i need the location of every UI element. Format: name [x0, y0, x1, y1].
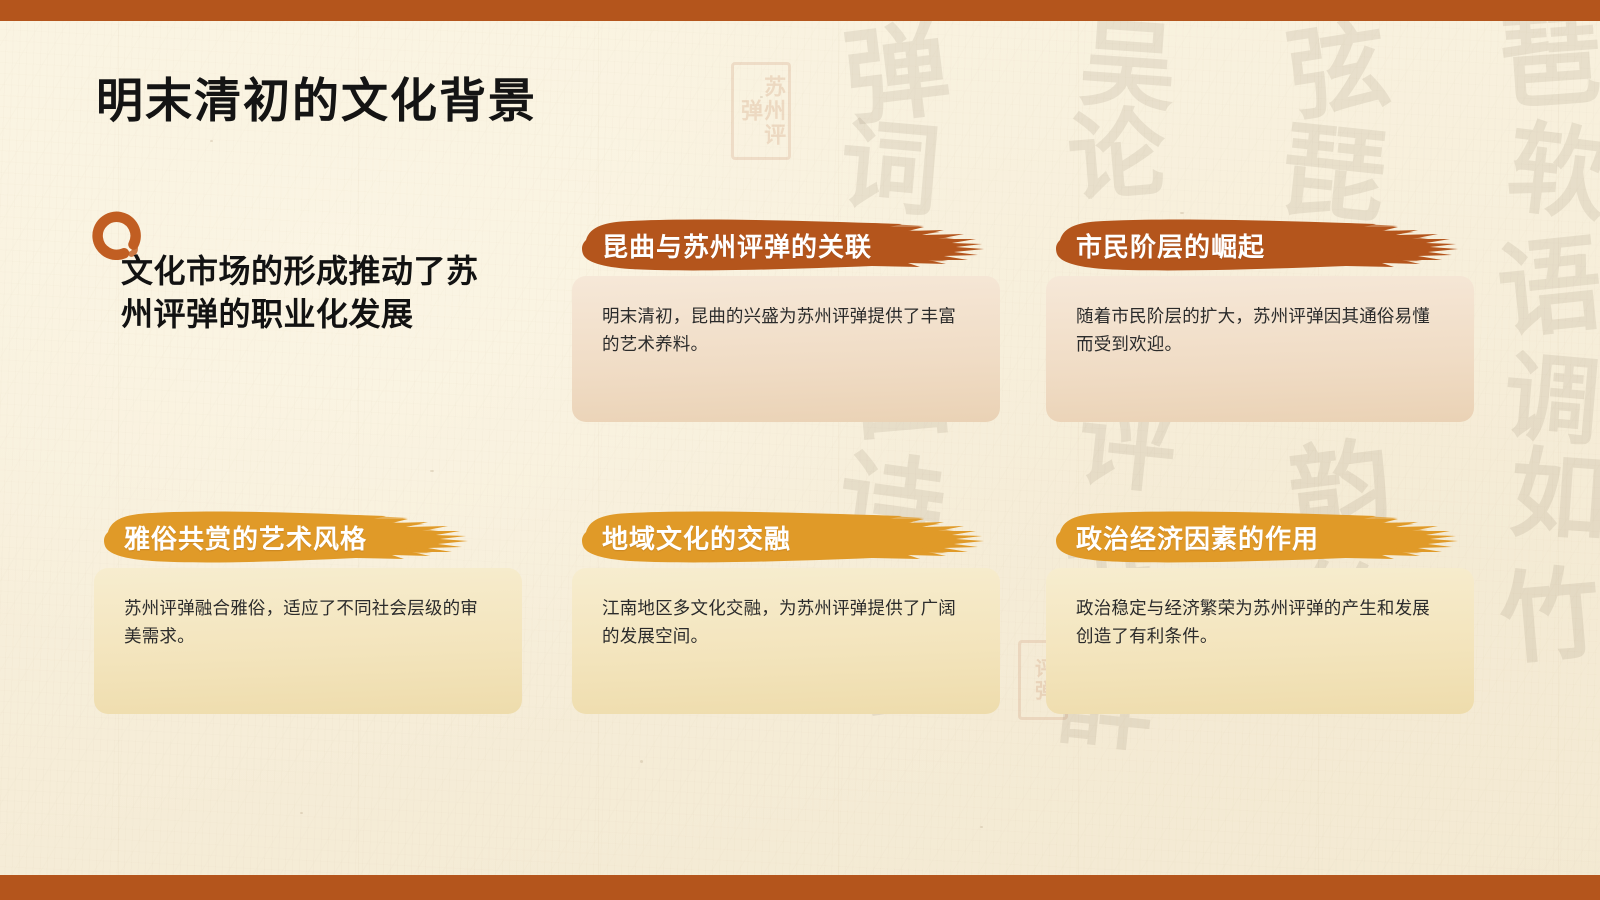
- info-card[interactable]: 市民阶层的崛起 随着市民阶层的扩大，苏州评弹因其通俗易懂而受到欢迎。: [1046, 214, 1474, 422]
- card-body: 随着市民阶层的扩大，苏州评弹因其通俗易懂而受到欢迎。: [1046, 276, 1474, 422]
- card-body-text: 明末清初，昆曲的兴盛为苏州评弹提供了丰富的艺术养料。: [602, 302, 970, 359]
- paper-speck-layer: [0, 0, 1600, 900]
- card-banner: 政治经济因素的作用: [1046, 506, 1474, 568]
- card-body-text: 政治稳定与经济繁荣为苏州评弹的产生和发展创造了有利条件。: [1076, 594, 1444, 651]
- page-title: 明末清初的文化背景: [96, 62, 537, 131]
- lead-statement-text: 文化市场的形成推动了苏州评弹的职业化发展: [121, 250, 491, 335]
- card-banner: 地域文化的交融: [572, 506, 1000, 568]
- slide-root: 弹 词 吴 论 弦 琵 琶 软 语 调 曲 诗 韵 如 评 书 丝 竹 雅 醉 …: [0, 0, 1600, 900]
- card-title: 市民阶层的崛起: [1076, 214, 1265, 276]
- card-title: 昆曲与苏州评弹的关联: [602, 214, 872, 276]
- card-body-text: 苏州评弹融合雅俗，适应了不同社会层级的审美需求。: [124, 594, 492, 651]
- card-title: 地域文化的交融: [602, 506, 791, 568]
- bottom-accent-bar: [0, 875, 1600, 900]
- info-card[interactable]: 雅俗共赏的艺术风格 苏州评弹融合雅俗，适应了不同社会层级的审美需求。: [94, 506, 522, 714]
- card-title: 雅俗共赏的艺术风格: [124, 506, 367, 568]
- info-card[interactable]: 政治经济因素的作用 政治稳定与经济繁荣为苏州评弹的产生和发展创造了有利条件。: [1046, 506, 1474, 714]
- card-banner: 雅俗共赏的艺术风格: [94, 506, 522, 568]
- card-body: 明末清初，昆曲的兴盛为苏州评弹提供了丰富的艺术养料。: [572, 276, 1000, 422]
- info-card[interactable]: 地域文化的交融 江南地区多文化交融，为苏州评弹提供了广阔的发展空间。: [572, 506, 1000, 714]
- card-banner: 市民阶层的崛起: [1046, 214, 1474, 276]
- card-body: 苏州评弹融合雅俗，适应了不同社会层级的审美需求。: [94, 568, 522, 714]
- card-body-text: 随着市民阶层的扩大，苏州评弹因其通俗易懂而受到欢迎。: [1076, 302, 1444, 359]
- card-body: 江南地区多文化交融，为苏州评弹提供了广阔的发展空间。: [572, 568, 1000, 714]
- card-body: 政治稳定与经济繁荣为苏州评弹的产生和发展创造了有利条件。: [1046, 568, 1474, 714]
- card-banner: 昆曲与苏州评弹的关联: [572, 214, 1000, 276]
- card-title: 政治经济因素的作用: [1076, 506, 1319, 568]
- info-card[interactable]: 昆曲与苏州评弹的关联 明末清初，昆曲的兴盛为苏州评弹提供了丰富的艺术养料。: [572, 214, 1000, 422]
- card-body-text: 江南地区多文化交融，为苏州评弹提供了广阔的发展空间。: [602, 594, 970, 651]
- top-accent-bar: [0, 0, 1600, 21]
